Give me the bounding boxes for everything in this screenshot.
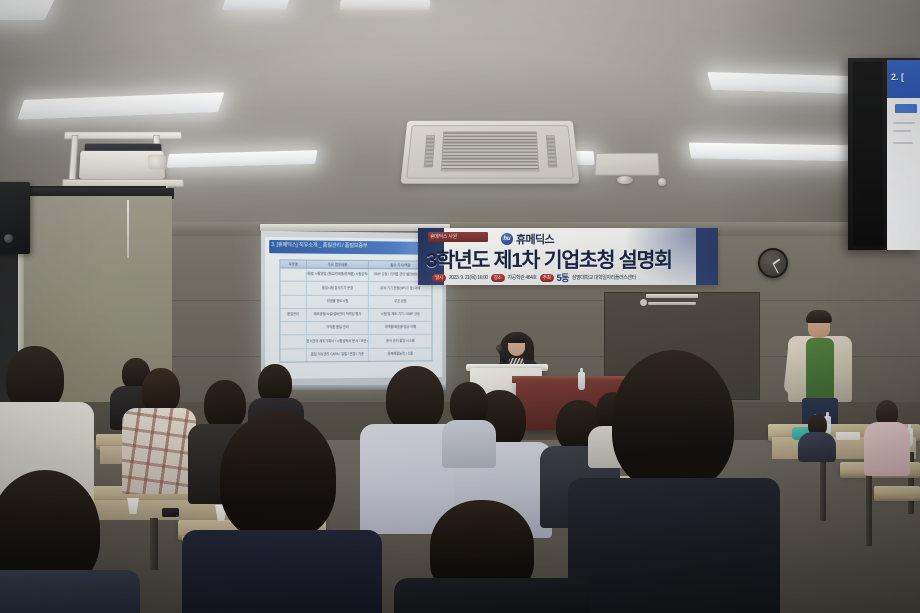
desk-edge bbox=[874, 496, 920, 501]
left-wall-monitor bbox=[0, 182, 30, 254]
audience-torso bbox=[442, 420, 496, 468]
slide-cell-duty: 미생물 한도시험 bbox=[307, 295, 369, 307]
slide-table-row: 미생물 한도시험 무균 공정 bbox=[280, 295, 431, 308]
staff-hair bbox=[806, 310, 832, 323]
led-panel-2 bbox=[222, 0, 290, 10]
banner-tag-label: 휴메딕스 사원 bbox=[430, 233, 457, 240]
banner-meta-pill-host: 주최 bbox=[540, 274, 554, 282]
blind-pull-cord[interactable] bbox=[127, 200, 129, 258]
ceiling-projector bbox=[59, 131, 186, 190]
staff-sweater bbox=[806, 338, 834, 400]
slide-cell-skill: 무균 공정 bbox=[369, 296, 431, 308]
projector-lens bbox=[148, 154, 167, 169]
desk-leg bbox=[820, 455, 826, 521]
right-monitor-line-2 bbox=[893, 130, 911, 132]
audience-torso bbox=[394, 578, 590, 613]
board-knob bbox=[640, 299, 647, 306]
projector-mount-left bbox=[69, 135, 79, 181]
ac-grille bbox=[441, 131, 540, 171]
slide-table-row: 의약품 품질 관리 의약품/화장품 법규 이해 bbox=[280, 322, 431, 336]
audience-head bbox=[386, 366, 444, 432]
banner-meta-row: 일시 2023. 9. 21(목) 16:00 장소 자공학관 484호 주최 … bbox=[432, 271, 636, 284]
ceiling-speaker-1 bbox=[617, 176, 633, 184]
slide-cell-role bbox=[280, 295, 306, 307]
audience-torso bbox=[0, 570, 140, 613]
banner-meta-host: 삼명대학교 대학일자리플러스센터 bbox=[572, 274, 636, 281]
slide-cell-role bbox=[280, 282, 306, 295]
slide-cell-duty: 의약품 품질 관리 bbox=[307, 322, 369, 335]
led-panel-8 bbox=[339, 0, 430, 10]
slide-table-row: 시험별 시험방법 (원료/반제품/완제품) 시험성적서 GMP 규정 / 의약품… bbox=[280, 268, 431, 282]
slide-cell-role bbox=[280, 336, 306, 349]
left-monitor-indicator bbox=[4, 234, 13, 243]
audience-head bbox=[220, 412, 336, 540]
slide-col-0: 직무명 bbox=[280, 260, 306, 267]
led-panel-7 bbox=[688, 142, 867, 161]
audience-torso bbox=[798, 432, 836, 462]
slide-table-row: 품질시험 분석기기 운영 분석 기기 운용(HPLC 등) 이해 bbox=[280, 282, 431, 296]
water-bottle bbox=[578, 372, 585, 390]
handout-paper bbox=[836, 432, 860, 440]
audience-member bbox=[442, 382, 496, 462]
presenter-fringe bbox=[506, 332, 527, 343]
audience-torso bbox=[182, 530, 382, 613]
right-monitor-slide-title: 2. [ bbox=[891, 72, 904, 82]
slide-cell-skill: 문제해결능력 / 소통 bbox=[369, 348, 431, 361]
smartphone bbox=[162, 508, 179, 517]
audience-member bbox=[798, 414, 836, 458]
audience-member-foreground bbox=[588, 350, 764, 613]
audience-torso bbox=[568, 478, 780, 613]
right-monitor-line-3 bbox=[893, 142, 913, 144]
event-banner: 휴메딕스 사원 hu 휴메딕스 3학년도 제1차 기업초청 설명회 일시 202… bbox=[418, 228, 718, 285]
slide-table-row: 품질관리 제조공정/시설/설비관리 적격성 평가 시험 및 제조 기기 / GM… bbox=[280, 309, 431, 322]
slide-cell-duty: 제조공정/시설/설비관리 적격성 평가 bbox=[307, 309, 369, 321]
ceiling-speaker-2 bbox=[658, 178, 666, 186]
slide-cell-skill: 문서 관리 품질 시스템 bbox=[369, 335, 431, 348]
banner-meta-place: 자공학관 484호 bbox=[508, 274, 537, 281]
slide-title: 3. [휴메딕스] 직무소개 _ 품질관리 / 품질보증부 bbox=[271, 240, 367, 248]
banner-meta-date: 2023. 9. 21(목) 16:00 bbox=[449, 274, 488, 281]
audience-head bbox=[612, 350, 734, 490]
projector-mount-top bbox=[64, 131, 183, 139]
slide-cell-duty: 품질 문서관리 제조기록서 / 시험성적서 문서 / 보관 / 관리 bbox=[307, 335, 369, 348]
audience-member-foreground bbox=[410, 500, 580, 613]
audience-member-foreground bbox=[196, 412, 374, 613]
slide-cell-duty: 시험별 시험방법 (원료/반제품/완제품) 시험성적서 bbox=[307, 269, 369, 282]
projected-slide: 3. [휴메딕스] 직무소개 _ 품질관리 / 품질보증부 직무명 주요 업무내… bbox=[265, 237, 442, 379]
lecture-hall-photo: 2. [ 3. [휴메딕스] 직무소개 _ 품질관리 / 품질보증부 직무명 주… bbox=[0, 0, 920, 613]
slide-table-row: 품질 문서관리 제조기록서 / 시험성적서 문서 / 보관 / 관리 문서 관리… bbox=[280, 335, 431, 349]
slide-cell-role bbox=[280, 322, 306, 334]
audience-member-foreground bbox=[0, 470, 150, 613]
right-monitor-slide-chip bbox=[895, 104, 917, 113]
ac-cassette-unit bbox=[400, 121, 579, 184]
desk-leg bbox=[150, 518, 158, 570]
slide-cell-role bbox=[280, 268, 306, 281]
banner-meta-pill-date: 일시 bbox=[432, 274, 446, 282]
wall-clock bbox=[758, 248, 788, 278]
right-monitor-bezel bbox=[853, 62, 883, 246]
slide-cell-role bbox=[280, 349, 306, 362]
slide-table: 직무명 주요 업무내용 필요 지식/역량 시험별 시험방법 (원료/반제품/완제… bbox=[279, 259, 432, 362]
right-monitor-line-1 bbox=[893, 122, 915, 124]
slide-cell-skill: 시험 및 제조 기기 / GMP 규정 bbox=[369, 309, 431, 321]
board-marker-tray-lower bbox=[648, 302, 696, 305]
banner-meta-pill-place: 장소 bbox=[491, 274, 505, 282]
clock-minute-hand bbox=[772, 263, 778, 273]
slide-cell-duty: 품질 이슈관리 CAPA / 일탈 / 변경 / 기준 bbox=[307, 349, 369, 362]
banner-meta-host-big: 5동 bbox=[557, 271, 569, 284]
slide-col-1: 주요 업무내용 bbox=[307, 261, 369, 269]
audience-torso bbox=[864, 422, 910, 476]
audience-member bbox=[862, 400, 910, 490]
banner-headline: 3학년도 제1차 기업초청 설명회 bbox=[426, 243, 718, 273]
ceiling-vent bbox=[594, 153, 659, 176]
slide-table-row: 품질 이슈관리 CAPA / 일탈 / 변경 / 기준 문제해결능력 / 소통 bbox=[280, 348, 431, 361]
board-marker-tray bbox=[646, 294, 698, 298]
slide-cell-skill: 의약품/화장품 법규 이해 bbox=[369, 322, 431, 334]
slide-cell-duty: 품질시험 분석기기 운영 bbox=[307, 282, 369, 295]
right-monitor-screen: 2. [ bbox=[887, 60, 920, 250]
slide-cell-role: 품질관리 bbox=[280, 309, 306, 321]
